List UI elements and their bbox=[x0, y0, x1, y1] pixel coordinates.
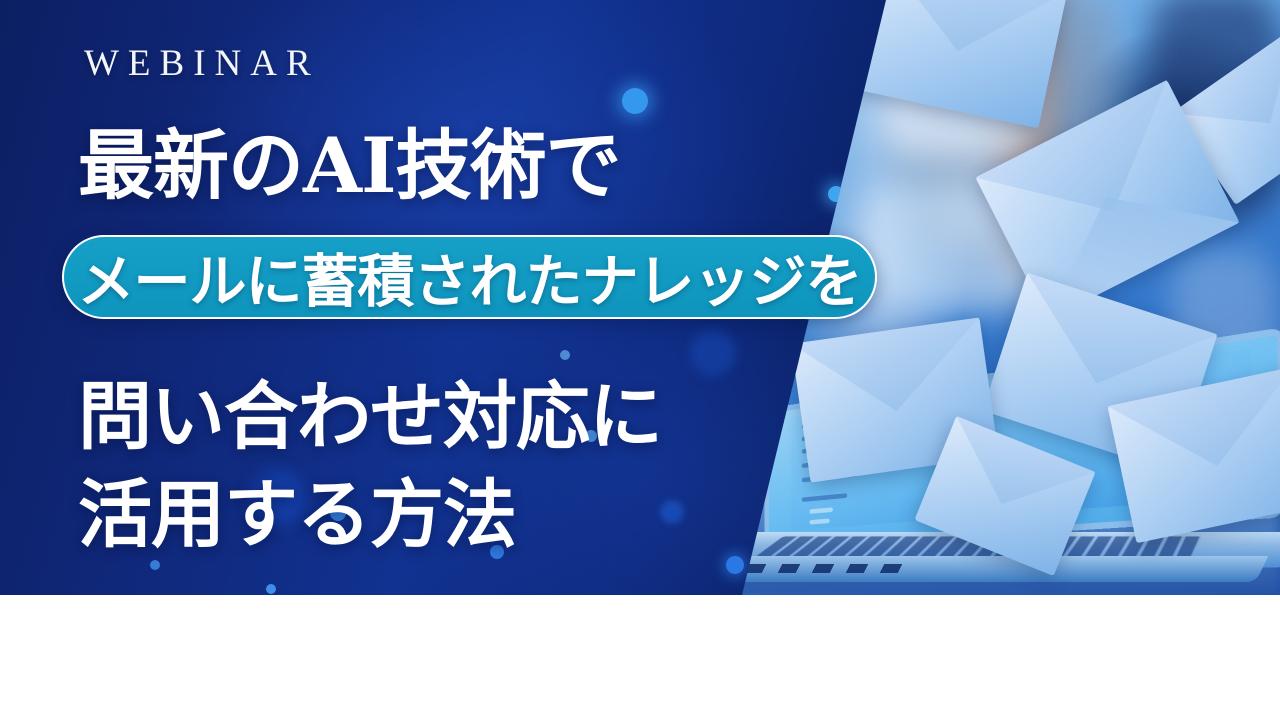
highlight-pill-label: メールに蓄積されたナレッジを bbox=[78, 236, 862, 318]
eyebrow-label: WEBINAR bbox=[84, 42, 320, 85]
title-line-3: 問い合わせ対応に bbox=[78, 357, 662, 464]
title-line-4: 活用する方法 bbox=[78, 455, 516, 562]
title-line-1: 最新のAI技術で bbox=[78, 104, 621, 214]
hero-section: WEBINAR 最新のAI技術で メールに蓄積されたナレッジを 問い合わせ対応に… bbox=[0, 0, 1280, 595]
hero-text-group: WEBINAR 最新のAI技術で メールに蓄積されたナレッジを 問い合わせ対応に… bbox=[0, 0, 900, 595]
webinar-banner: WEBINAR 最新のAI技術で メールに蓄積されたナレッジを 問い合わせ対応に… bbox=[0, 0, 1280, 720]
highlight-pill: メールに蓄積されたナレッジを bbox=[62, 235, 877, 319]
footer-bar: KandaSearch 2024 9/12 Thu 13:00-14:00 マジ… bbox=[0, 595, 1280, 720]
